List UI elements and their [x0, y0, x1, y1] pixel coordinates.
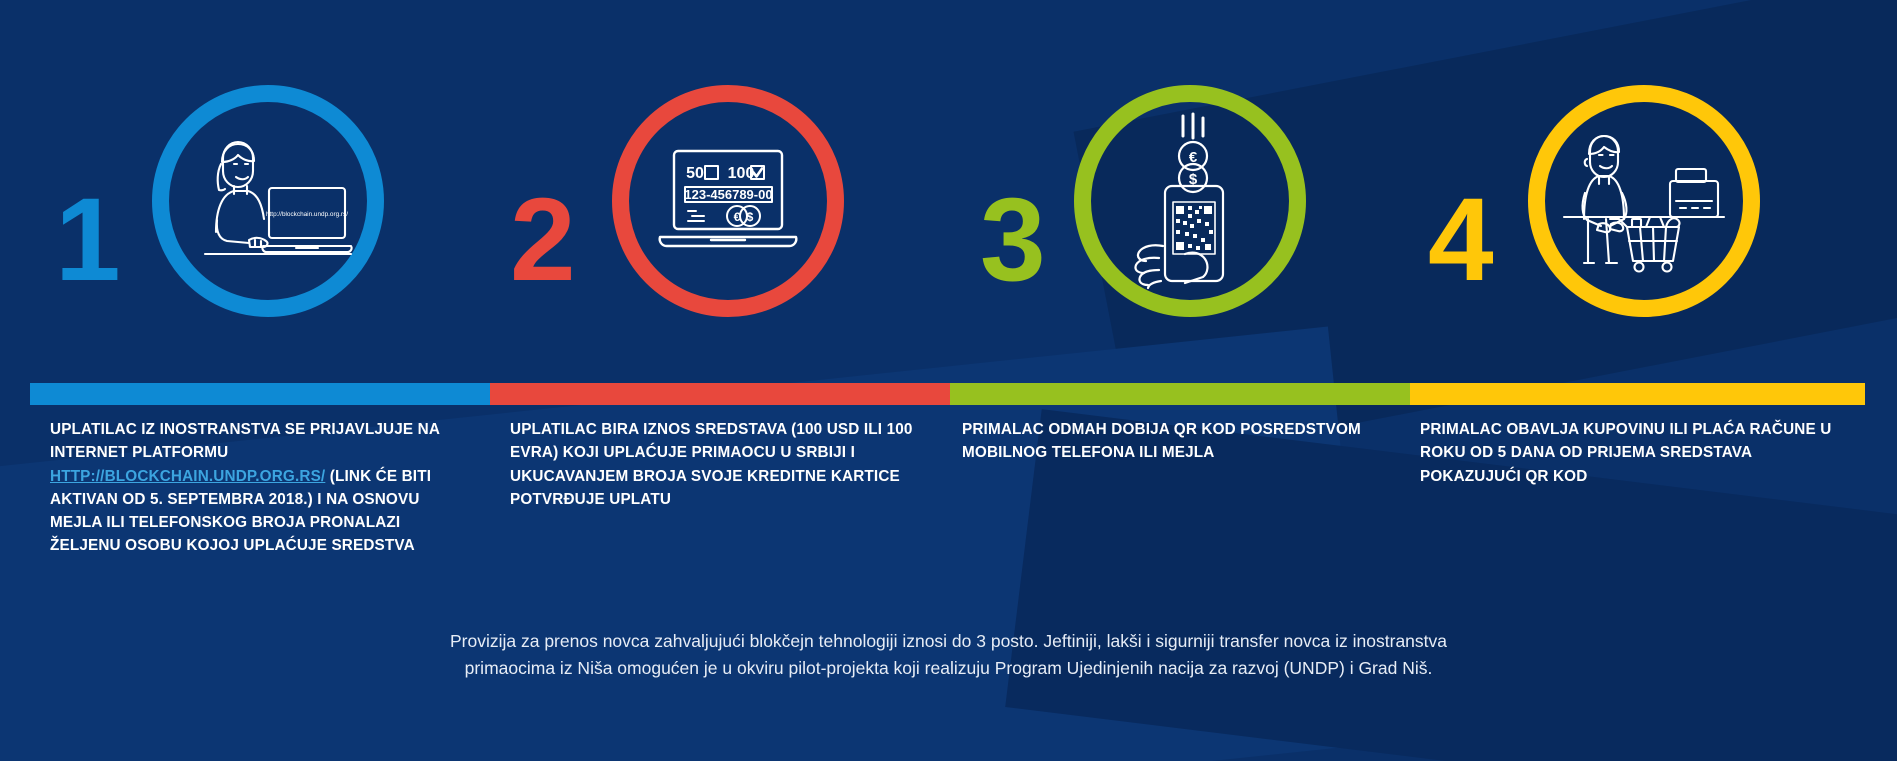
amount-option-1-label: 50 — [686, 165, 704, 182]
qr-code-pattern — [1176, 206, 1213, 250]
dollar-symbol: $ — [747, 210, 754, 224]
blockchain-platform-link[interactable]: HTTP://BLOCKCHAIN.UNDP.ORG.RS/ — [50, 468, 325, 485]
step-1-caption-part-2: PLATFORMU — [132, 444, 228, 461]
footer-note-line-2: primaocima iz Niša omogućen je u okviru … — [0, 655, 1897, 682]
step-1-caption: UPLATILAC IZ INOSTRANSTVA SE PRIJAVLJUJE… — [50, 418, 470, 558]
step-2-caption: UPLATILAC BIRA IZNOS SREDSTAVA (100 USD … — [510, 418, 930, 511]
hand-holding-phone-qr-icon: € $ — [1074, 85, 1306, 317]
step-captions: UPLATILAC IZ INOSTRANSTVA SE PRIJAVLJUJE… — [0, 418, 1897, 568]
card-number-text: 123-456789-00 — [684, 187, 772, 202]
step-color-bars — [0, 383, 1897, 405]
steps-row: 1 — [0, 0, 1897, 383]
shopper-at-checkout-icon — [1528, 85, 1760, 317]
step-2: 2 50 100 123-456789-00 — [490, 0, 960, 383]
step-4-number: 4 — [1428, 181, 1492, 299]
laptop-payment-form-icon: 50 100 123-456789-00 € $ — [612, 85, 844, 317]
step-1: 1 — [40, 0, 490, 383]
step-3-number: 3 — [980, 181, 1044, 299]
step-4: 4 — [1410, 0, 1880, 383]
infographic-root: 1 — [0, 0, 1897, 761]
color-bar-step-2 — [490, 383, 950, 405]
color-bar-step-4 — [1410, 383, 1865, 405]
euro-symbol: € — [734, 210, 741, 224]
color-bar-step-1 — [30, 383, 490, 405]
footer-note-line-1: Provizija za prenos novca zahvaljujući b… — [0, 628, 1897, 655]
step-4-caption: PRIMALAC OBAVLJA KUPOVINU ILI PLAĆA RAČU… — [1420, 418, 1845, 488]
step-3: 3 € $ — [960, 0, 1410, 383]
footer-note: Provizija za prenos novca zahvaljujući b… — [0, 628, 1897, 682]
step-3-caption: PRIMALAC ODMAH DOBIJA QR KOD POSREDSTVOM… — [962, 418, 1382, 465]
step-1-number: 1 — [55, 181, 119, 299]
step-1-caption-part-1: UPLATILAC IZ INOSTRANSTVA SE PRIJAVLJUJE… — [50, 421, 439, 461]
step-2-number: 2 — [510, 181, 574, 299]
person-at-laptop-icon: http://blockchain.undp.org.rs/ — [152, 85, 384, 317]
color-bar-step-3 — [950, 383, 1410, 405]
laptop-url-text: http://blockchain.undp.org.rs/ — [266, 211, 348, 218]
